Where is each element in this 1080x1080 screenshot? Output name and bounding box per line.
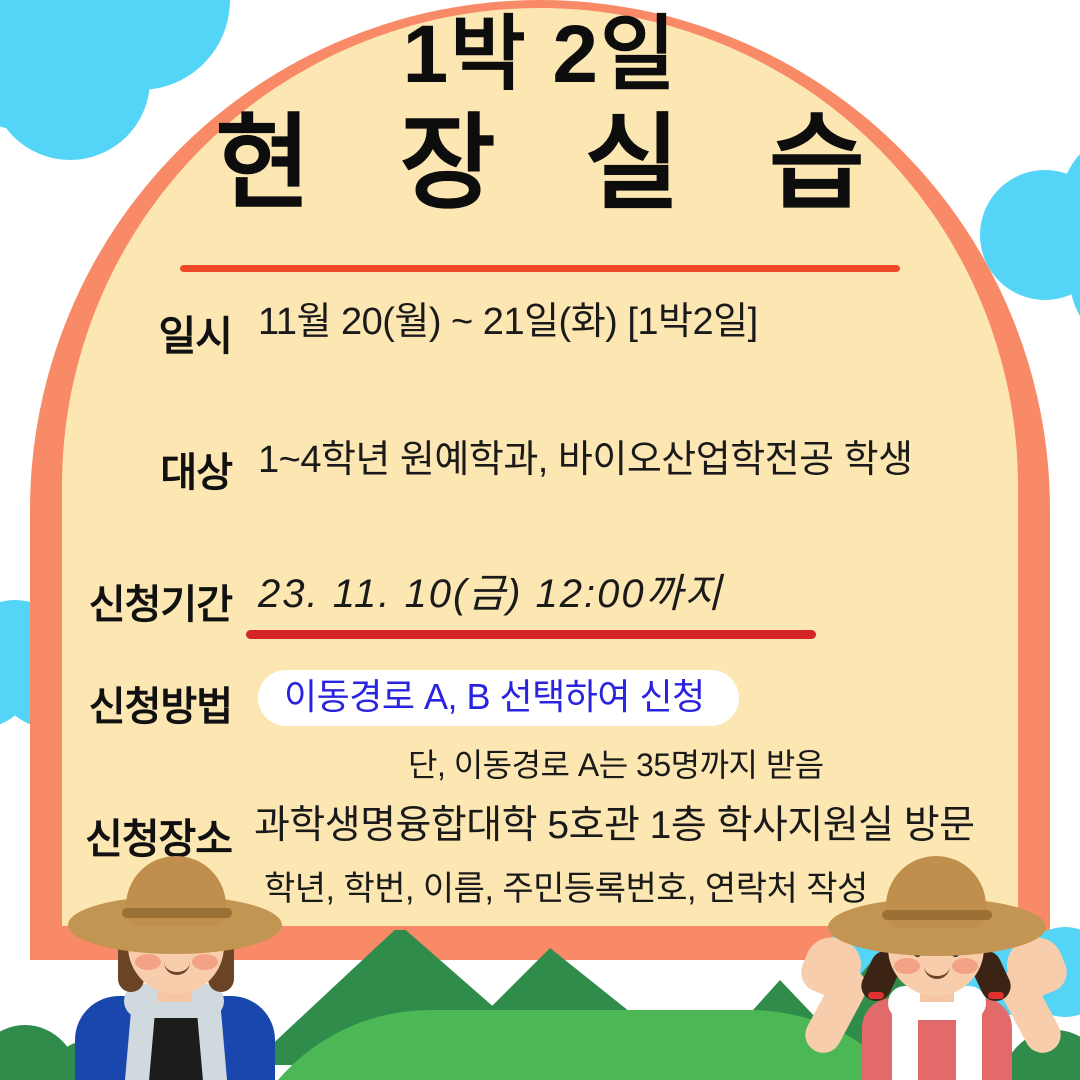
value-method: 이동경로 A, B 선택하여 신청 bbox=[258, 670, 739, 726]
info-row-date: 일시 11월 20(월) ~ 21일(화) [1박2일] bbox=[0, 302, 1080, 362]
character-girl-illustration bbox=[790, 846, 1080, 1080]
boy-cheek-right bbox=[192, 954, 218, 970]
page-title-line2: 현 장 실 습 bbox=[62, 106, 1018, 222]
poster-canvas: 1박 2일 현 장 실 습 일시 11월 20(월) ~ 21일(화) [1박2… bbox=[0, 0, 1080, 1080]
value-method-wrap: 이동경로 A, B 선택하여 신청 bbox=[232, 674, 1080, 730]
info-row-method: 신청방법 이동경로 A, B 선택하여 신청 bbox=[0, 674, 1080, 732]
title-block: 1박 2일 현 장 실 습 bbox=[62, 14, 1018, 222]
value-date: 11월 20(월) ~ 21일(화) [1박2일] bbox=[232, 302, 1080, 344]
value-method-note-wrap: 단, 이동경로 A는 35명까지 받음 bbox=[232, 748, 1080, 783]
info-row-method-note: 단, 이동경로 A는 35명까지 받음 bbox=[0, 748, 1080, 783]
boy-cheek-left bbox=[135, 954, 161, 970]
label-date: 일시 bbox=[0, 302, 232, 362]
value-method-note: 단, 이동경로 A는 35명까지 받음 bbox=[258, 748, 1080, 783]
value-target: 1~4학년 원예학과, 바이오산업학전공 학생 bbox=[232, 440, 1080, 482]
info-row-target: 대상 1~4학년 원예학과, 바이오산업학전공 학생 bbox=[0, 440, 1080, 498]
label-method: 신청방법 bbox=[0, 674, 232, 732]
value-place: 과학생명융합대학 5호관 1층 학사지원실 방문 bbox=[232, 805, 1080, 848]
info-list: 일시 11월 20(월) ~ 21일(화) [1박2일] 대상 1~4학년 원예… bbox=[0, 296, 1080, 909]
boy-straw-hat-band bbox=[122, 908, 232, 918]
page-title-line1: 1박 2일 bbox=[62, 14, 1018, 96]
info-row-period: 신청기간 23. 11. 10(금) 12:00까지 bbox=[0, 572, 1080, 630]
period-underline bbox=[246, 630, 816, 639]
label-period: 신청기간 bbox=[0, 572, 232, 630]
girl-straw-hat-band bbox=[882, 910, 992, 920]
title-divider bbox=[180, 265, 900, 272]
girl-cheek-right bbox=[952, 958, 978, 974]
girl-hairtie-left bbox=[868, 992, 884, 999]
label-target: 대상 bbox=[0, 440, 232, 498]
girl-cheek-left bbox=[894, 958, 920, 974]
character-boy-illustration bbox=[40, 846, 310, 1080]
girl-hairtie-right bbox=[988, 992, 1004, 999]
value-period: 23. 11. 10(금) 12:00까지 bbox=[232, 572, 1080, 616]
